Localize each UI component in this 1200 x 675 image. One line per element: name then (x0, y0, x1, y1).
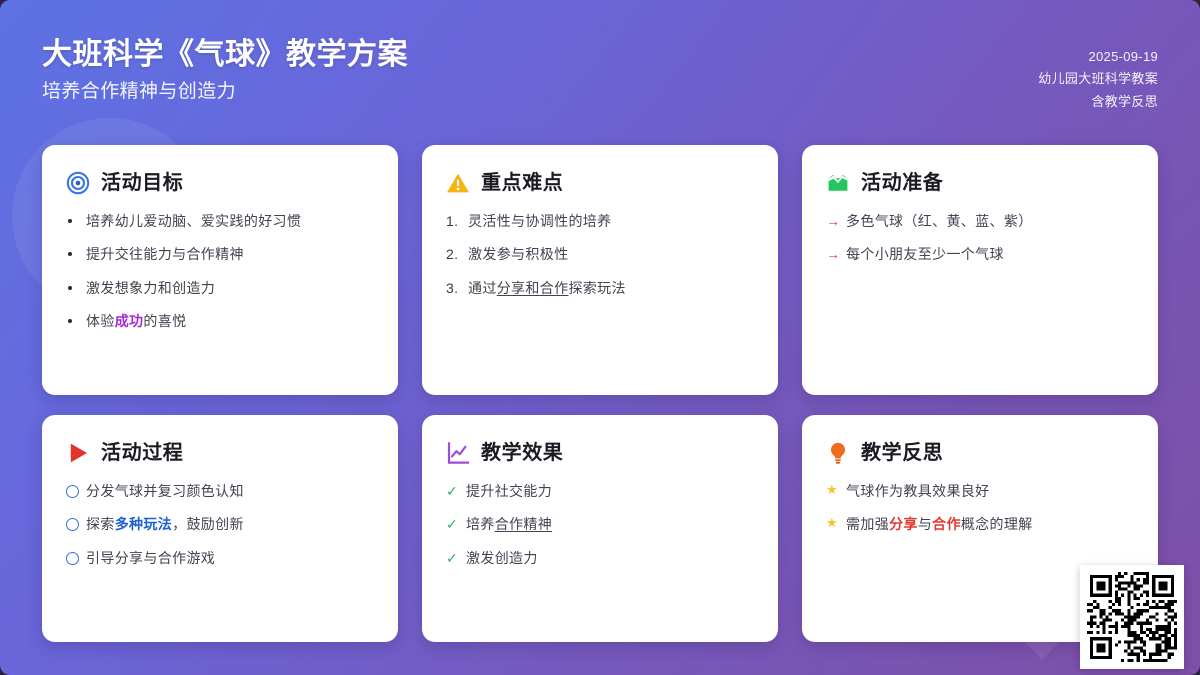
list-item: 3.通过分享和合作探索玩法 (446, 278, 754, 298)
list-item: 1.灵活性与协调性的培养 (446, 211, 754, 231)
list-item-text: 需加强分享与合作概念的理解 (846, 514, 1134, 534)
plain-text: 提升交往能力与合作精神 (86, 246, 244, 262)
meta-note: 含教学反思 (1091, 91, 1158, 113)
slide-header: 大班科学《气球》教学方案 培养合作精神与创造力 2025-09-19 幼儿园大班… (0, 0, 1200, 128)
list-marker-check-icon: ✓ (446, 548, 466, 568)
card-objectives: 活动目标培养幼儿爱动脑、爱实践的好习惯提升交往能力与合作精神激发想象力和创造力体… (42, 145, 398, 395)
list-item-text: 分发气球并复习颜色认知 (86, 481, 374, 501)
card-grid: 活动目标培养幼儿爱动脑、爱实践的好习惯提升交往能力与合作精神激发想象力和创造力体… (42, 145, 1158, 642)
title-block: 大班科学《气球》教学方案 培养合作精神与创造力 (42, 36, 408, 104)
lightbulb-icon (826, 441, 850, 465)
play-triangle-icon (66, 441, 90, 465)
card-header: 活动目标 (66, 171, 374, 195)
plain-text: 概念的理解 (961, 516, 1033, 532)
list-item-text: 提升交往能力与合作精神 (86, 244, 374, 264)
card-process: 活动过程分发气球并复习颜色认知探索多种玩法，鼓励创新引导分享与合作游戏 (42, 415, 398, 642)
card-header: 活动过程 (66, 441, 374, 465)
plain-text: 与 (918, 516, 932, 532)
plain-text: 多色气球（红、黄、蓝、紫） (846, 213, 1033, 229)
card-header: 重点难点 (446, 171, 754, 195)
list-marker-check-icon: ✓ (446, 481, 466, 501)
list-marker-arrow-icon: → (826, 244, 846, 264)
list-item: →多色气球（红、黄、蓝、紫） (826, 211, 1134, 231)
list-item: 激发想象力和创造力 (66, 278, 374, 298)
plain-text: 激发创造力 (466, 550, 538, 566)
plain-text: 需加强 (846, 516, 889, 532)
list-item: 提升交往能力与合作精神 (66, 244, 374, 264)
list-item: 探索多种玩法，鼓励创新 (66, 514, 374, 534)
card-item-list: 分发气球并复习颜色认知探索多种玩法，鼓励创新引导分享与合作游戏 (66, 481, 374, 568)
plain-text: 灵活性与协调性的培养 (468, 213, 612, 229)
plain-text: 引导分享与合作游戏 (86, 550, 215, 566)
card-title: 重点难点 (481, 173, 563, 193)
emphasis-text: 分享和合作 (497, 280, 569, 296)
slide-root: 大班科学《气球》教学方案 培养合作精神与创造力 2025-09-19 幼儿园大班… (0, 0, 1200, 675)
qr-code[interactable] (1080, 565, 1184, 669)
meta-category: 幼儿园大班科学教案 (1038, 68, 1158, 90)
list-item: 体验成功的喜悦 (66, 311, 374, 331)
list-item: 培养幼儿爱动脑、爱实践的好习惯 (66, 211, 374, 231)
list-item: ✓提升社交能力 (446, 481, 754, 501)
page-title: 大班科学《气球》教学方案 (42, 36, 408, 74)
list-item-text: 激发参与积极性 (468, 244, 754, 264)
plain-text: 气球作为教具效果良好 (846, 483, 990, 499)
list-item: 分发气球并复习颜色认知 (66, 481, 374, 501)
list-item-text: 通过分享和合作探索玩法 (468, 278, 754, 298)
card-header: 教学反思 (826, 441, 1134, 465)
list-item: ★气球作为教具效果良好 (826, 481, 1134, 501)
list-item-text: 引导分享与合作游戏 (86, 548, 374, 568)
card-item-list: 培养幼儿爱动脑、爱实践的好习惯提升交往能力与合作精神激发想象力和创造力体验成功的… (66, 211, 374, 331)
qr-code-image (1087, 572, 1177, 662)
list-item-text: 体验成功的喜悦 (86, 311, 374, 331)
list-item-text: 每个小朋友至少一个气球 (846, 244, 1134, 264)
plain-text: 提升社交能力 (466, 483, 552, 499)
card-key-points: 重点难点1.灵活性与协调性的培养2.激发参与积极性3.通过分享和合作探索玩法 (422, 145, 778, 395)
list-item-text: 灵活性与协调性的培养 (468, 211, 754, 231)
card-title: 教学反思 (861, 443, 943, 463)
card-title: 教学效果 (481, 443, 563, 463)
target-icon (66, 171, 90, 195)
package-box-icon (826, 171, 850, 195)
plain-text: 通过 (468, 280, 497, 296)
list-marker-number-icon: 2. (446, 244, 468, 264)
warning-triangle-icon (446, 171, 470, 195)
list-marker-star-icon: ★ (826, 514, 846, 533)
list-item-text: 激发创造力 (466, 548, 754, 568)
card-preparation: 活动准备→多色气球（红、黄、蓝、紫）→每个小朋友至少一个气球 (802, 145, 1158, 395)
list-item-text: 探索多种玩法，鼓励创新 (86, 514, 374, 534)
list-item-text: 提升社交能力 (466, 481, 754, 501)
list-marker-star-icon: ★ (826, 481, 846, 500)
list-item-text: 培养幼儿爱动脑、爱实践的好习惯 (86, 211, 374, 231)
list-item-text: 培养合作精神 (466, 514, 754, 534)
list-item-text: 激发想象力和创造力 (86, 278, 374, 298)
list-marker-check-icon: ✓ (446, 514, 466, 534)
page-subtitle: 培养合作精神与创造力 (42, 80, 408, 105)
plain-text: 分发气球并复习颜色认知 (86, 483, 244, 499)
list-item: ✓培养合作精神 (446, 514, 754, 534)
emphasis-text: 分享 (889, 516, 918, 532)
card-item-list: ✓提升社交能力✓培养合作精神✓激发创造力 (446, 481, 754, 568)
plain-text: 的喜悦 (143, 313, 186, 329)
list-marker-number-icon: 3. (446, 278, 468, 298)
card-item-list: →多色气球（红、黄、蓝、紫）→每个小朋友至少一个气球 (826, 211, 1134, 265)
list-item: ✓激发创造力 (446, 548, 754, 568)
card-title: 活动过程 (101, 443, 183, 463)
line-chart-icon (446, 441, 470, 465)
plain-text: 激发想象力和创造力 (86, 280, 215, 296)
list-item: 2.激发参与积极性 (446, 244, 754, 264)
plain-text: 体验 (86, 313, 115, 329)
list-item-text: 气球作为教具效果良好 (846, 481, 1134, 501)
list-marker-number-icon: 1. (446, 211, 468, 231)
card-item-list: 1.灵活性与协调性的培养2.激发参与积极性3.通过分享和合作探索玩法 (446, 211, 754, 298)
list-marker-arrow-icon: → (826, 211, 846, 231)
emphasis-text: 合作 (932, 516, 961, 532)
list-item: →每个小朋友至少一个气球 (826, 244, 1134, 264)
list-item: ★需加强分享与合作概念的理解 (826, 514, 1134, 534)
plain-text: 培养 (466, 516, 495, 532)
plain-text: 探索 (86, 516, 115, 532)
header-meta: 2025-09-19 幼儿园大班科学教案 含教学反思 (1038, 36, 1158, 113)
meta-date: 2025-09-19 (1089, 46, 1159, 68)
card-header: 活动准备 (826, 171, 1134, 195)
plain-text: 培养幼儿爱动脑、爱实践的好习惯 (86, 213, 301, 229)
plain-text: 每个小朋友至少一个气球 (846, 246, 1004, 262)
emphasis-text: 多种玩法 (115, 516, 172, 532)
card-title: 活动目标 (101, 173, 183, 193)
list-item: 引导分享与合作游戏 (66, 548, 374, 568)
plain-text: 激发参与积极性 (468, 246, 568, 262)
card-outcomes: 教学效果✓提升社交能力✓培养合作精神✓激发创造力 (422, 415, 778, 642)
plain-text: ，鼓励创新 (172, 516, 244, 532)
card-header: 教学效果 (446, 441, 754, 465)
emphasis-text: 成功 (115, 313, 144, 329)
plain-text: 探索玩法 (568, 280, 625, 296)
card-title: 活动准备 (861, 173, 943, 193)
card-item-list: ★气球作为教具效果良好★需加强分享与合作概念的理解 (826, 481, 1134, 535)
emphasis-text: 合作精神 (495, 516, 552, 532)
list-item-text: 多色气球（红、黄、蓝、紫） (846, 211, 1134, 231)
